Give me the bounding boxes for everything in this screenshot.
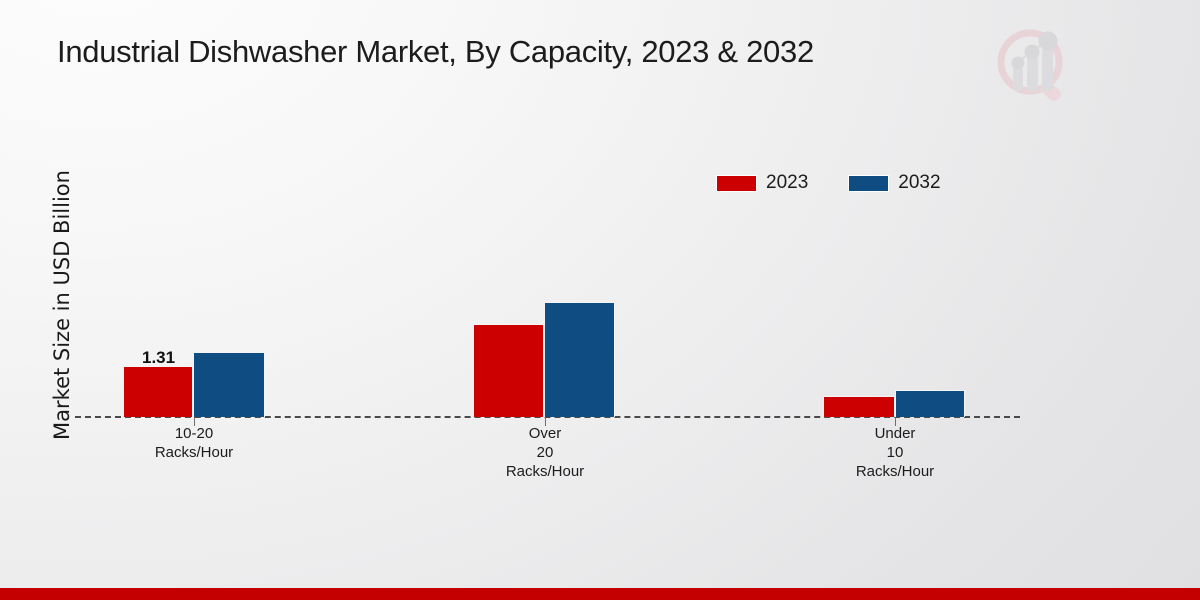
x-axis-label-10-20-line-1: 10-20 bbox=[84, 424, 304, 443]
bar-2023-under-10[interactable] bbox=[823, 396, 895, 417]
bar-value-label-2023-10-20: 1.31 bbox=[142, 348, 175, 368]
x-axis-label-over-20-line-1: Over bbox=[435, 424, 655, 443]
x-axis-label-under-10-line-3: Racks/Hour bbox=[785, 462, 1005, 481]
x-axis-label-under-10-line-1: Under bbox=[785, 424, 1005, 443]
bar-2023-over-20[interactable] bbox=[473, 324, 544, 417]
bar-2023-10-20[interactable] bbox=[123, 366, 193, 417]
x-axis-label-under-10: Under 10 Racks/Hour bbox=[785, 424, 1005, 481]
x-axis-label-10-20-line-2: Racks/Hour bbox=[84, 443, 304, 462]
x-axis-label-under-10-line-2: 10 bbox=[785, 443, 1005, 462]
plot-area: 1.31 10-20 Racks/Hour Over 20 Racks/Hour… bbox=[0, 0, 1200, 600]
bar-2032-under-10[interactable] bbox=[895, 390, 965, 417]
bar-2032-over-20[interactable] bbox=[544, 302, 615, 417]
footer-accent-bar bbox=[0, 588, 1200, 600]
x-axis-label-over-20-line-3: Racks/Hour bbox=[435, 462, 655, 481]
chart-canvas: Industrial Dishwasher Market, By Capacit… bbox=[0, 0, 1200, 600]
bar-2032-10-20[interactable] bbox=[193, 352, 265, 417]
x-axis-label-over-20-line-2: 20 bbox=[435, 443, 655, 462]
x-axis-label-10-20: 10-20 Racks/Hour bbox=[84, 424, 304, 462]
x-axis-label-over-20: Over 20 Racks/Hour bbox=[435, 424, 655, 481]
